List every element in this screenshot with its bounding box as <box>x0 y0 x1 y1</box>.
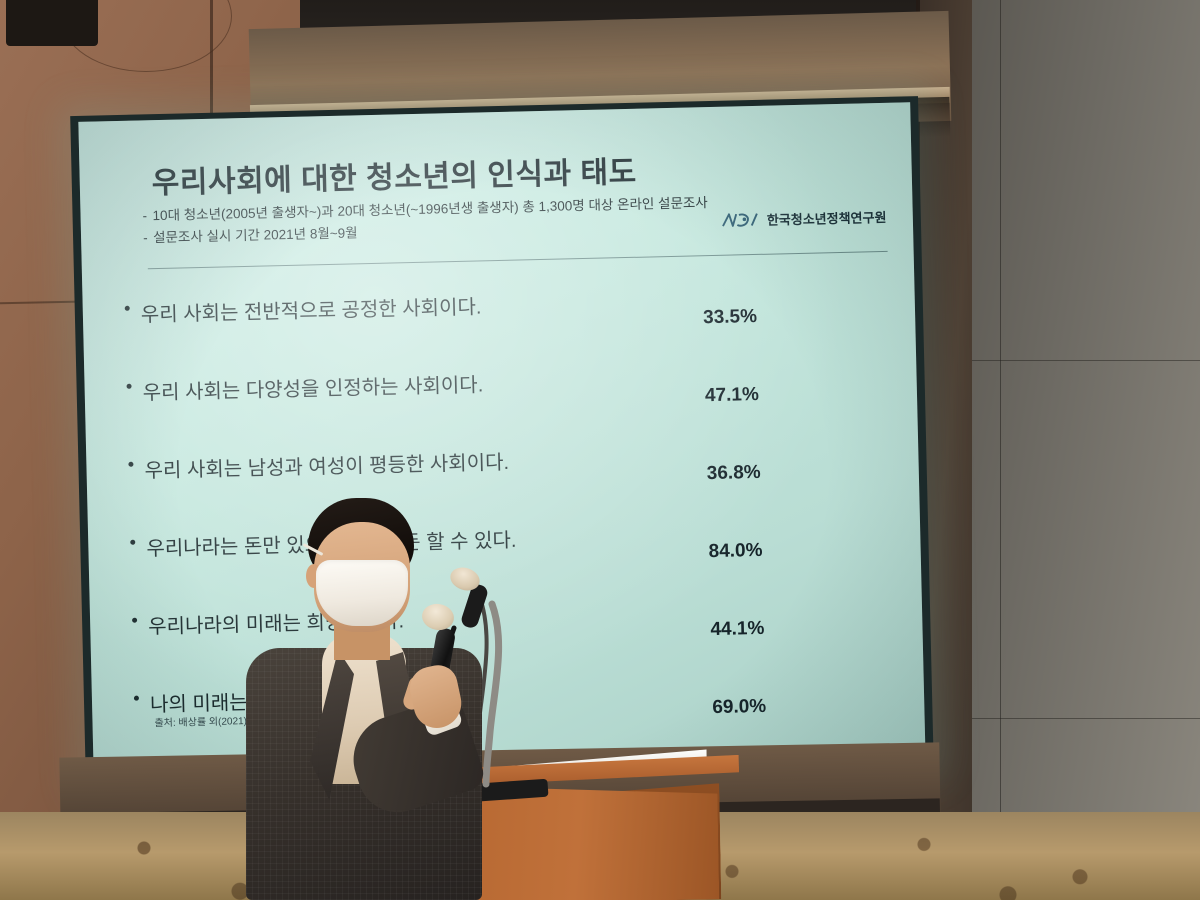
survey-row-value: 33.5% <box>703 306 757 329</box>
survey-row-value: 44.1% <box>710 618 764 641</box>
institute-logo: 한국청소년정책연구원 <box>721 207 887 230</box>
header-divider <box>148 251 888 269</box>
survey-row-value: 69.0% <box>712 696 766 719</box>
bullet-icon <box>130 540 135 545</box>
survey-row-value: 47.1% <box>705 384 759 407</box>
institute-logo-text: 한국청소년정책연구원 <box>767 207 887 229</box>
npi-logo-icon <box>721 210 761 229</box>
wall-seam-vertical <box>1000 0 1001 900</box>
bullet-icon <box>132 618 137 623</box>
dash-marker: - <box>143 230 153 245</box>
survey-row-value: 36.8% <box>707 462 761 485</box>
presenter <box>236 498 566 900</box>
slide-subtitle-2: -설문조사 실시 기간 2021년 8월~9월 <box>143 221 358 246</box>
survey-row-label: 우리 사회는 전반적으로 공정한 사회이다. <box>141 290 482 327</box>
ceiling-speaker <box>6 0 98 46</box>
slide-subtitle-2-text: 설문조사 실시 기간 2021년 8월~9월 <box>153 225 358 245</box>
bullet-icon <box>125 306 130 311</box>
bullet-icon <box>134 696 139 701</box>
bullet-icon <box>127 384 132 389</box>
dash-marker: - <box>142 208 152 223</box>
presentation-photo: 우리사회에 대한 청소년의 인식과 태도 -10대 청소년(2005년 출생자~… <box>0 0 1200 900</box>
handheld-microphone-head <box>420 601 456 632</box>
bullet-icon <box>128 462 133 467</box>
face-mask-icon <box>316 560 408 626</box>
survey-row-value: 84.0% <box>708 540 762 563</box>
